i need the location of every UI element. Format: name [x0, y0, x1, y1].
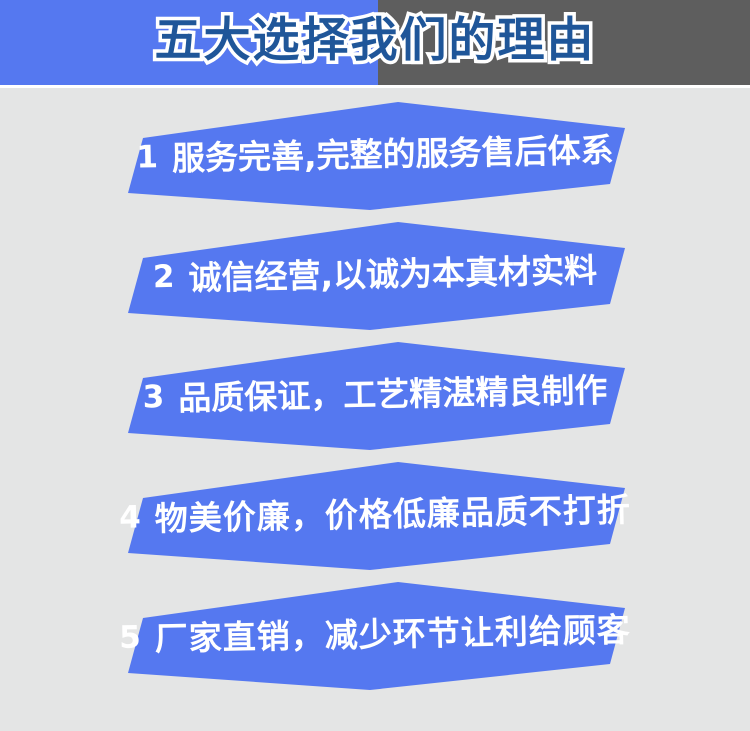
- page-header: 五大选择我们的理由: [0, 0, 750, 85]
- reason-banner-5[interactable]: 5 厂家直销，减少环节让利给顾客: [0, 578, 750, 690]
- reason-banner-2-label: 2 诚信经营,以诚为本真材实料: [0, 211, 750, 337]
- reason-banner-1-label: 1 服务完善,完整的服务售后体系: [0, 91, 750, 217]
- header-divider: [0, 85, 750, 88]
- reason-banner-3-label: 3 品质保证，工艺精湛精良制作: [0, 331, 750, 457]
- reason-banner-2[interactable]: 2 诚信经营,以诚为本真材实料: [0, 218, 750, 330]
- reason-banner-5-label: 5 厂家直销，减少环节让利给顾客: [0, 571, 750, 697]
- reason-banner-4[interactable]: 4 物美价廉，价格低廉品质不打折: [0, 458, 750, 570]
- reason-number-1: 1: [136, 142, 158, 173]
- reason-text-3: 品质保证，工艺精湛精良制作: [178, 373, 608, 414]
- reason-number-2: 2: [153, 261, 175, 292]
- reason-text-4: 物美价廉，价格低廉品质不打折: [155, 493, 632, 535]
- reason-banner-3[interactable]: 3 品质保证，工艺精湛精良制作: [0, 338, 750, 450]
- reason-banner-1[interactable]: 1 服务完善,完整的服务售后体系: [0, 98, 750, 210]
- reason-text-2: 诚信经营,以诚为本真材实料: [188, 253, 597, 294]
- reason-banner-4-label: 4 物美价廉，价格低廉品质不打折: [0, 451, 750, 577]
- reason-text-1: 服务完善,完整的服务售后体系: [172, 133, 614, 174]
- reason-number-3: 3: [142, 382, 164, 413]
- promo-page: 五大选择我们的理由 1 服务完善,完整的服务售后体系 2 诚信经营,以诚为本真材…: [0, 0, 750, 731]
- reason-number-5: 5: [119, 622, 141, 653]
- page-title: 五大选择我们的理由: [0, 0, 750, 85]
- reason-number-4: 4: [119, 502, 141, 533]
- reason-text-5: 厂家直销，减少环节让利给顾客: [155, 613, 632, 655]
